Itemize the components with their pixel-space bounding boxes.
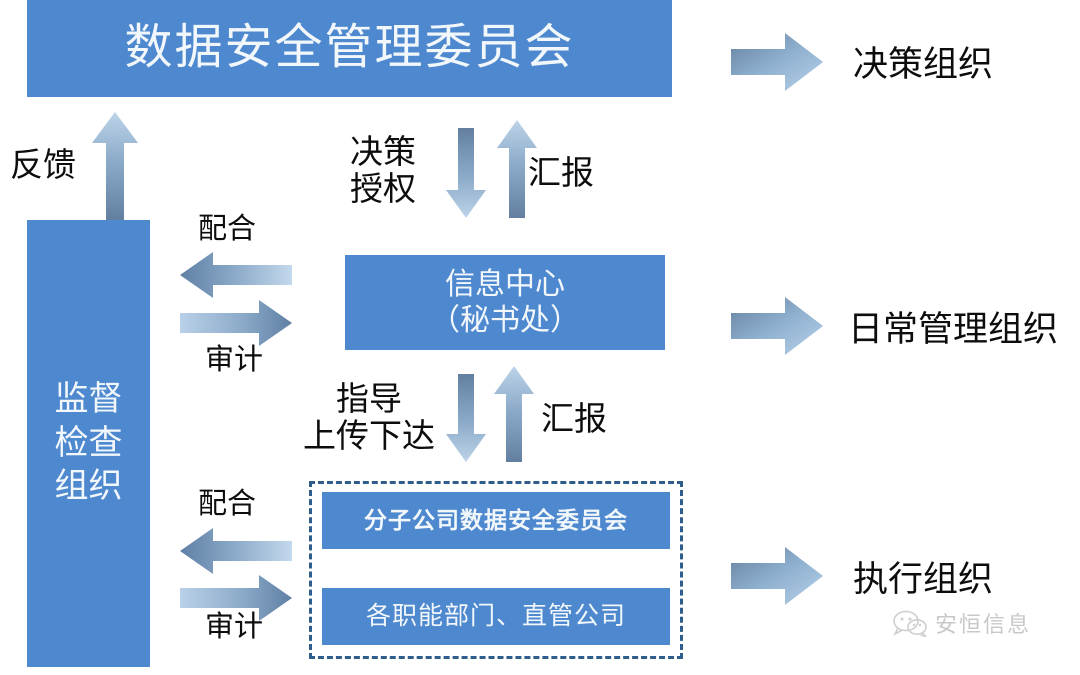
role-label-daily-management-organization: 日常管理组织: [848, 301, 1058, 352]
box-data-security-committee: 数据安全管理委员会: [27, 0, 672, 97]
watermark: 安恒信息: [893, 607, 1031, 639]
box-subsidiary-data-security-committee: 分子公司数据安全委员会: [322, 492, 670, 549]
box-functional-departments: 各职能部门、直管公司: [322, 588, 670, 645]
watermark-text: 安恒信息: [935, 607, 1031, 639]
label-decision-authorize: 决策 授权: [350, 134, 416, 208]
box-supervision-inspection-organization: 监督 检查 组织: [27, 220, 150, 667]
label-cooperate-lower: 配合: [198, 488, 256, 520]
role-label-decision-organization: 决策组织: [853, 36, 993, 87]
arrow-right-icon: [731, 547, 823, 605]
arrow-down-icon: [446, 128, 486, 218]
label-audit-upper: 审计: [205, 344, 263, 376]
arrow-left-icon: [180, 252, 292, 298]
label-feedback: 反馈: [10, 147, 76, 184]
box-information-center: 信息中心 （秘书处）: [345, 255, 665, 350]
arrow-left-icon: [180, 528, 292, 574]
label-guide-updown: 指导 上传下达: [303, 381, 435, 455]
arrow-up-icon: [494, 366, 534, 462]
arrow-right-icon: [180, 300, 292, 346]
label-audit-lower: 审计: [205, 611, 263, 643]
label-cooperate-upper: 配合: [198, 213, 256, 245]
arrow-up-icon: [92, 112, 138, 220]
arrow-right-icon: [731, 297, 823, 355]
arrow-down-icon: [446, 374, 486, 462]
label-report-top: 汇报: [528, 155, 594, 192]
arrow-right-icon: [731, 33, 823, 91]
role-label-execution-organization: 执行组织: [853, 551, 993, 602]
diagram-canvas: 数据安全管理委员会 信息中心 （秘书处） 监督 检查 组织 分子公司数据安全委员…: [0, 0, 1080, 675]
label-report-middle: 汇报: [541, 401, 607, 438]
wechat-icon: [893, 609, 927, 637]
